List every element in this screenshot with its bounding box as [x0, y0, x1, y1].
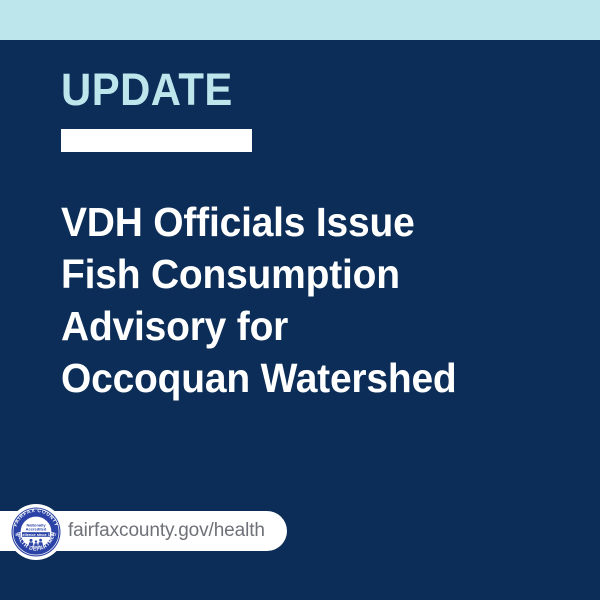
social-update-graphic: UPDATE VDH Officials Issue Fish Consumpt… [0, 0, 600, 600]
eyebrow-underline-bar [61, 129, 252, 152]
headline-line: Advisory for [61, 300, 536, 352]
headline-line: Occoquan Watershed [61, 352, 536, 404]
page-title: VDH Officials Issue Fish Consumption Adv… [61, 196, 561, 404]
fairfax-county-health-department-seal-icon: FAIRFAX COUNTY HEALTH DEPARTMENT Nationa… [8, 502, 64, 560]
eyebrow-label: UPDATE [61, 66, 489, 114]
svg-text:Excellence since 1957: Excellence since 1957 [16, 532, 57, 537]
eyebrow-block: UPDATE [61, 66, 521, 152]
footer-url-label: fairfaxcounty.gov/health [68, 520, 265, 542]
headline-line: Fish Consumption [61, 248, 536, 300]
headline-line: VDH Officials Issue [61, 196, 536, 248]
decorative-top-band [0, 0, 600, 40]
